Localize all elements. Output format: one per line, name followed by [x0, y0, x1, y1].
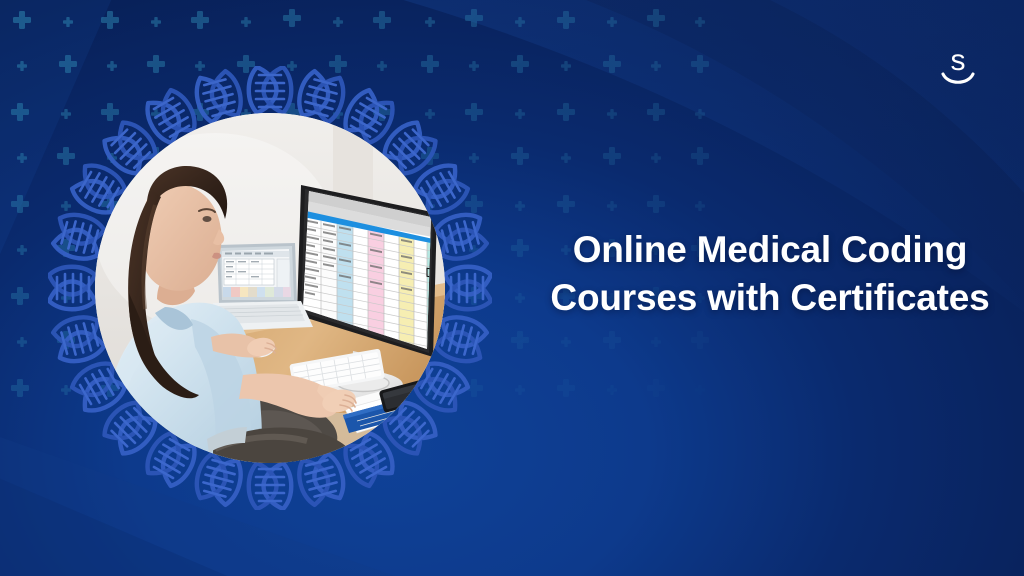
medical-coder-photo [95, 113, 445, 463]
banner-root: Online Medical Coding Courses with Certi… [0, 0, 1024, 576]
page-title: Online Medical Coding Courses with Certi… [528, 226, 1012, 322]
medical-coder-photo-svg [95, 113, 445, 463]
brand-logo-letter: s [951, 44, 966, 77]
page-title-line-2: Courses with Certificates [528, 274, 1012, 322]
page-title-line-1: Online Medical Coding [528, 226, 1012, 274]
photo-with-dna-ring [48, 66, 492, 510]
brand-logo-s-icon: s [932, 40, 984, 92]
brand-logo[interactable]: s [932, 40, 984, 92]
